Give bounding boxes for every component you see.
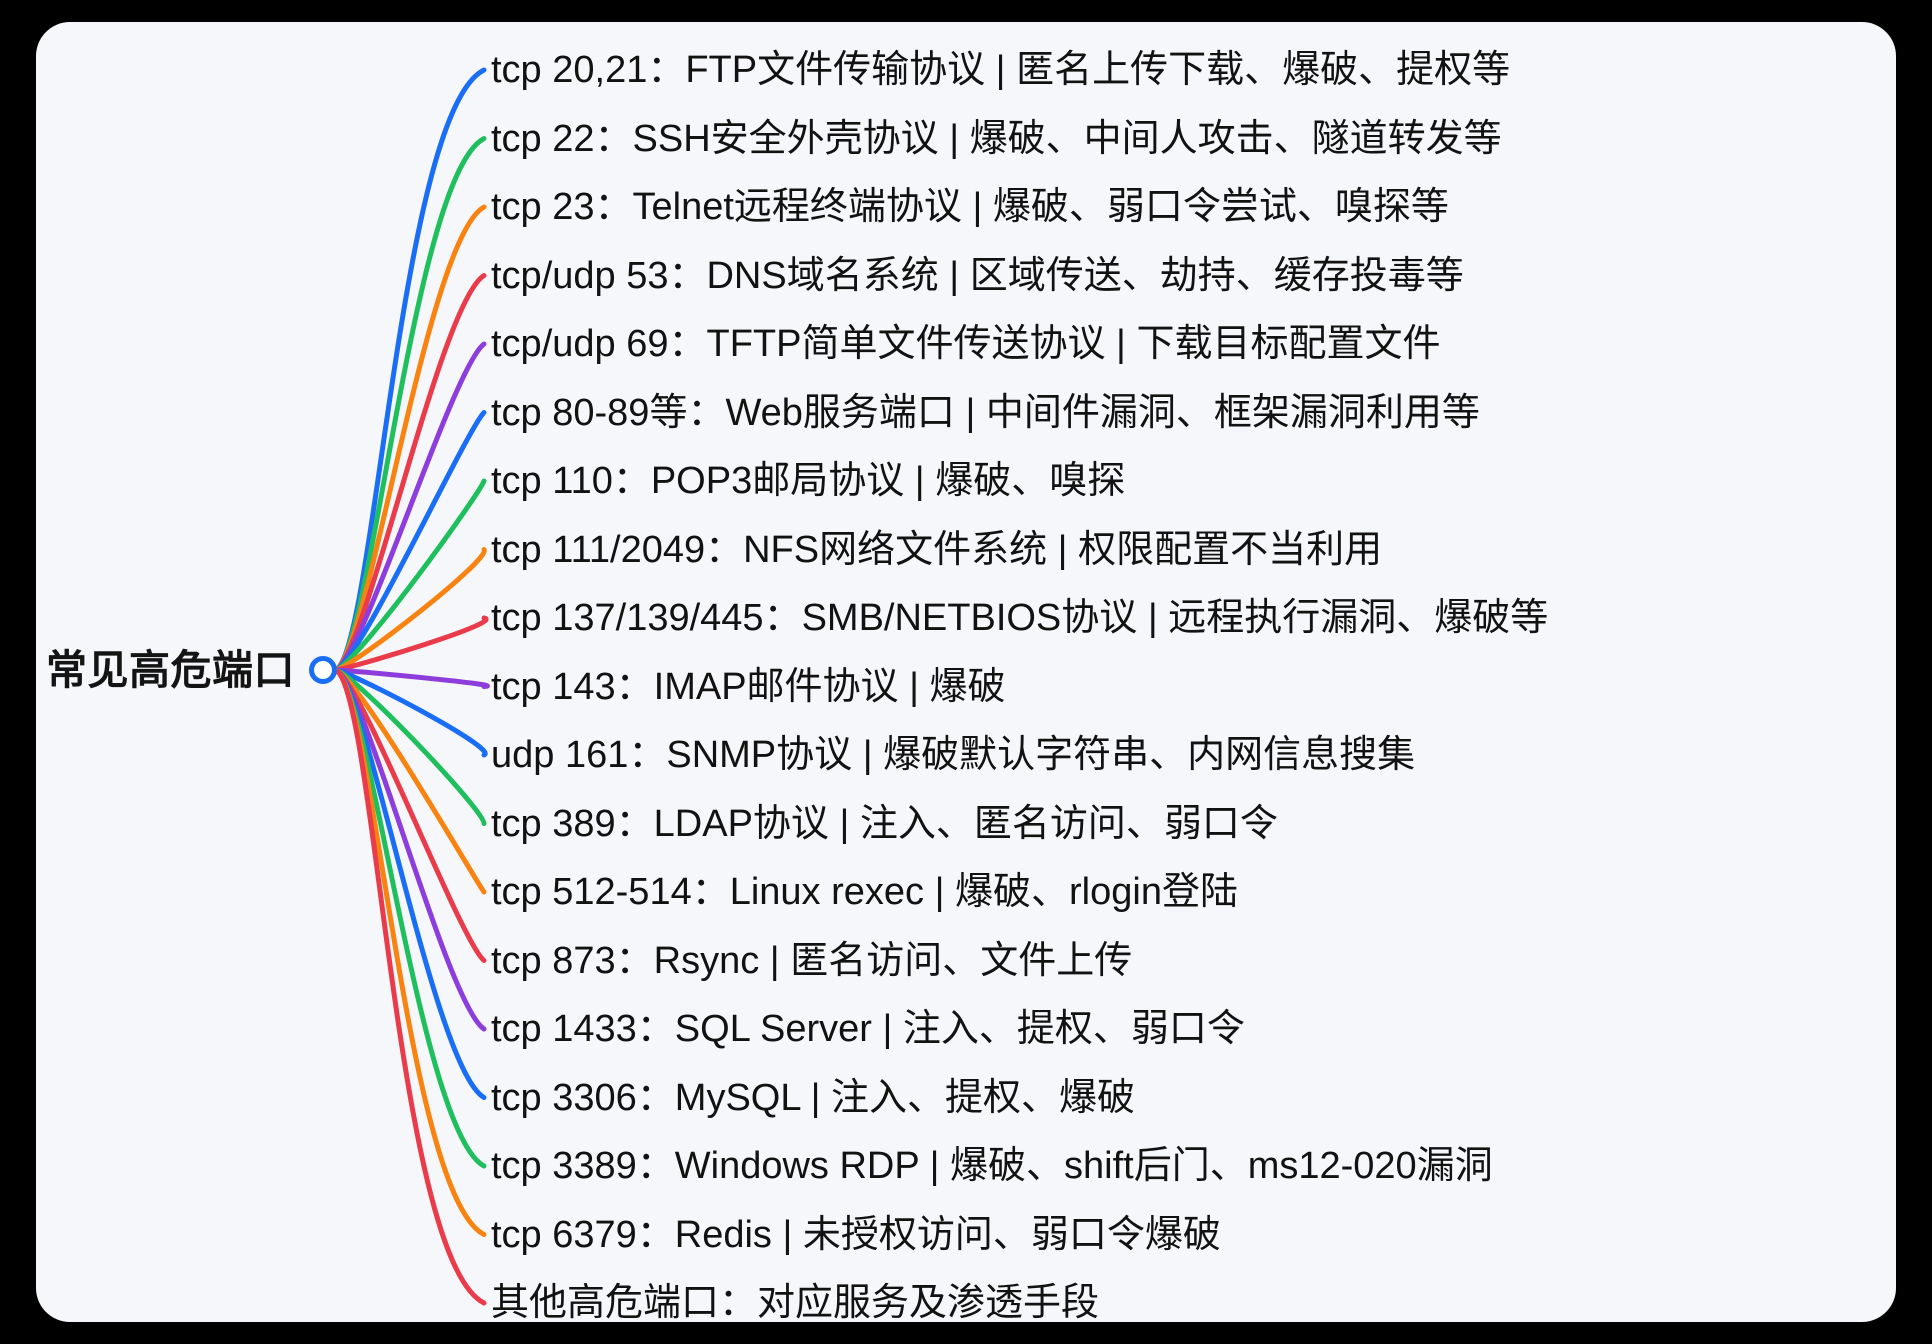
branch-label[interactable]: tcp 3389：Windows RDP | 爆破、shift后门、ms12-0… (491, 1147, 1493, 1185)
branch-label[interactable]: tcp 1433：SQL Server | 注入、提权、弱口令 (491, 1010, 1245, 1048)
root-node-label: 常见高危端口 (46, 650, 295, 691)
branch-connector (336, 70, 484, 670)
branch-label[interactable]: tcp/udp 69：TFTP简单文件传送协议 | 下载目标配置文件 (491, 325, 1440, 363)
branch-label[interactable]: tcp 873：Rsync | 匿名访问、文件上传 (491, 942, 1132, 980)
branch-label[interactable]: tcp 512-514：Linux rexec | 爆破、rlogin登陆 (491, 873, 1238, 911)
root-node[interactable]: 常见高危端口 (46, 640, 337, 700)
branch-label[interactable]: tcp 143：IMAP邮件协议 | 爆破 (491, 668, 1006, 706)
branch-label[interactable]: tcp/udp 53：DNS域名系统 | 区域传送、劫持、缓存投毒等 (491, 257, 1464, 295)
branch-label[interactable]: tcp 111/2049：NFS网络文件系统 | 权限配置不当利用 (491, 531, 1382, 569)
branch-label[interactable]: 其他高危端口：对应服务及渗透手段 (491, 1284, 1099, 1322)
branch-label[interactable]: tcp 80-89等：Web服务端口 | 中间件漏洞、框架漏洞利用等 (491, 394, 1480, 432)
branch-label[interactable]: tcp 6379：Redis | 未授权访问、弱口令爆破 (491, 1216, 1221, 1254)
mindmap-card: 常见高危端口 tcp 20,21：FTP文件传输协议 | 匿名上传下载、爆破、提… (36, 22, 1896, 1322)
branch-label[interactable]: tcp 110：POP3邮局协议 | 爆破、嗅探 (491, 462, 1125, 500)
branch-label[interactable]: tcp 20,21：FTP文件传输协议 | 匿名上传下载、爆破、提权等 (491, 51, 1510, 89)
branch-label[interactable]: tcp 389：LDAP协议 | 注入、匿名访问、弱口令 (491, 805, 1278, 843)
root-node-circle-icon[interactable] (309, 656, 337, 684)
branch-label[interactable]: tcp 23：Telnet远程终端协议 | 爆破、弱口令尝试、嗅探等 (491, 188, 1449, 226)
branch-label[interactable]: tcp 137/139/445：SMB/NETBIOS协议 | 远程执行漏洞、爆… (491, 599, 1548, 637)
branch-label[interactable]: tcp 3306：MySQL | 注入、提权、爆破 (491, 1079, 1135, 1117)
branch-label[interactable]: tcp 22：SSH安全外壳协议 | 爆破、中间人攻击、隧道转发等 (491, 120, 1502, 158)
branch-label[interactable]: udp 161：SNMP协议 | 爆破默认字符串、内网信息搜集 (491, 736, 1415, 774)
